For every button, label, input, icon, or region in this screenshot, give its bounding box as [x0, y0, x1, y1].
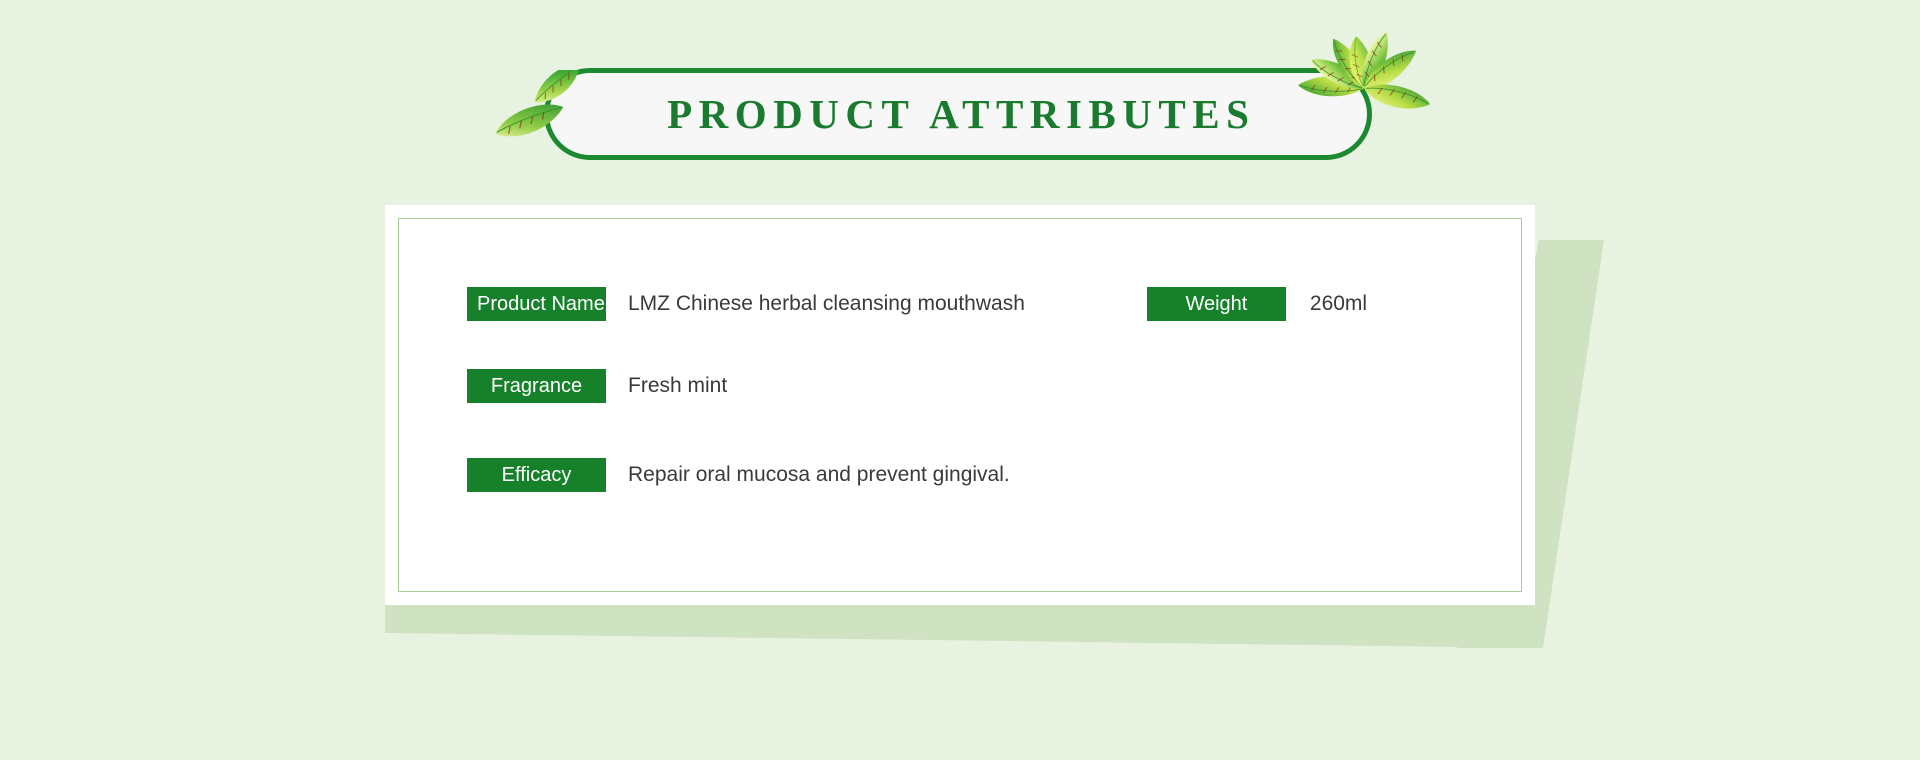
attribute-value-product-name: LMZ Chinese herbal cleansing mouthwash — [628, 287, 1025, 321]
page-title: PRODUCT ATTRIBUTES — [549, 73, 1367, 155]
attribute-value-fragrance: Fresh mint — [628, 369, 727, 403]
attribute-label-efficacy: Efficacy — [467, 458, 606, 492]
attribute-label-weight: Weight — [1147, 287, 1286, 321]
attribute-row: Product Name LMZ Chinese herbal cleansin… — [467, 287, 1367, 321]
attribute-value-efficacy: Repair oral mucosa and prevent gingival. — [628, 458, 1010, 492]
attribute-row: Fragrance Fresh mint — [467, 369, 727, 403]
attribute-pair-weight: Weight 260ml — [1147, 287, 1367, 321]
attribute-row: Efficacy Repair oral mucosa and prevent … — [467, 458, 1010, 492]
attributes-card: Product Name LMZ Chinese herbal cleansin… — [385, 205, 1535, 605]
attribute-label-product-name: Product Name — [467, 287, 606, 321]
title-pill: PRODUCT ATTRIBUTES — [544, 68, 1372, 160]
attribute-value-weight: 260ml — [1310, 287, 1367, 321]
attributes-list: Product Name LMZ Chinese herbal cleansin… — [467, 287, 1495, 585]
attribute-label-fragrance: Fragrance — [467, 369, 606, 403]
product-attributes-page: Product Name LMZ Chinese herbal cleansin… — [0, 0, 1920, 760]
page-title-banner: PRODUCT ATTRIBUTES — [482, 22, 1442, 182]
